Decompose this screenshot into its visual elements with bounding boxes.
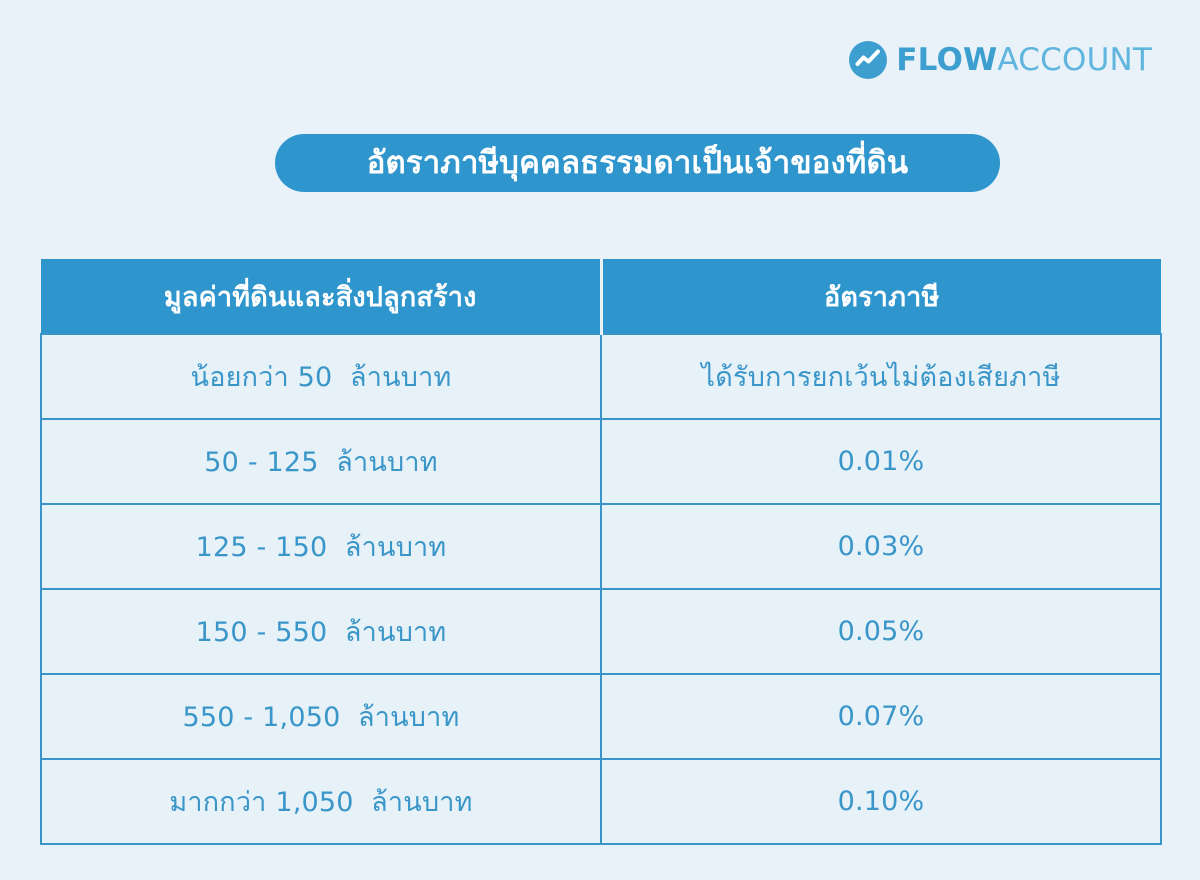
flowaccount-chart-circle-icon xyxy=(849,41,887,79)
column-header-property-value: มูลค่าที่ดินและสิ่งปลูกสร้าง xyxy=(41,259,601,334)
table-row: มากกว่า 1,050 ล้านบาท 0.10% xyxy=(41,759,1161,844)
table-row: 125 - 150 ล้านบาท 0.03% xyxy=(41,504,1161,589)
cell-property-value: 50 - 125 ล้านบาท xyxy=(41,419,601,504)
brand-word-flow: FLOW xyxy=(896,42,997,78)
cell-property-value: น้อยกว่า 50 ล้านบาท xyxy=(41,334,601,419)
table-row: น้อยกว่า 50 ล้านบาท ได้รับการยกเว้นไม่ต้… xyxy=(41,334,1161,419)
cell-tax-rate: 0.10% xyxy=(601,759,1161,844)
table-body: น้อยกว่า 50 ล้านบาท ได้รับการยกเว้นไม่ต้… xyxy=(41,334,1161,844)
tax-rate-table: มูลค่าที่ดินและสิ่งปลูกสร้าง อัตราภาษี น… xyxy=(40,259,1162,845)
page-title-pill: อัตราภาษีบุคคลธรรมดาเป็นเจ้าของที่ดิน xyxy=(275,134,1000,192)
cell-tax-rate: 0.01% xyxy=(601,419,1161,504)
flowaccount-logo: FLOWACCOUNT xyxy=(849,38,1152,82)
table-row: 550 - 1,050 ล้านบาท 0.07% xyxy=(41,674,1161,759)
table-row: 50 - 125 ล้านบาท 0.01% xyxy=(41,419,1161,504)
cell-tax-rate: 0.03% xyxy=(601,504,1161,589)
cell-property-value: 150 - 550 ล้านบาท xyxy=(41,589,601,674)
cell-tax-rate: 0.07% xyxy=(601,674,1161,759)
table-row: 150 - 550 ล้านบาท 0.05% xyxy=(41,589,1161,674)
cell-property-value: 125 - 150 ล้านบาท xyxy=(41,504,601,589)
brand-wordmark: FLOWACCOUNT xyxy=(896,45,1152,76)
cell-tax-rate: ได้รับการยกเว้นไม่ต้องเสียภาษี xyxy=(601,334,1161,419)
column-header-tax-rate: อัตราภาษี xyxy=(601,259,1161,334)
cell-property-value: 550 - 1,050 ล้านบาท xyxy=(41,674,601,759)
table-header-row: มูลค่าที่ดินและสิ่งปลูกสร้าง อัตราภาษี xyxy=(41,259,1161,334)
brand-word-account: ACCOUNT xyxy=(997,42,1152,78)
table-header: มูลค่าที่ดินและสิ่งปลูกสร้าง อัตราภาษี xyxy=(41,259,1161,334)
cell-property-value: มากกว่า 1,050 ล้านบาท xyxy=(41,759,601,844)
page-title: อัตราภาษีบุคคลธรรมดาเป็นเจ้าของที่ดิน xyxy=(367,148,909,179)
cell-tax-rate: 0.05% xyxy=(601,589,1161,674)
